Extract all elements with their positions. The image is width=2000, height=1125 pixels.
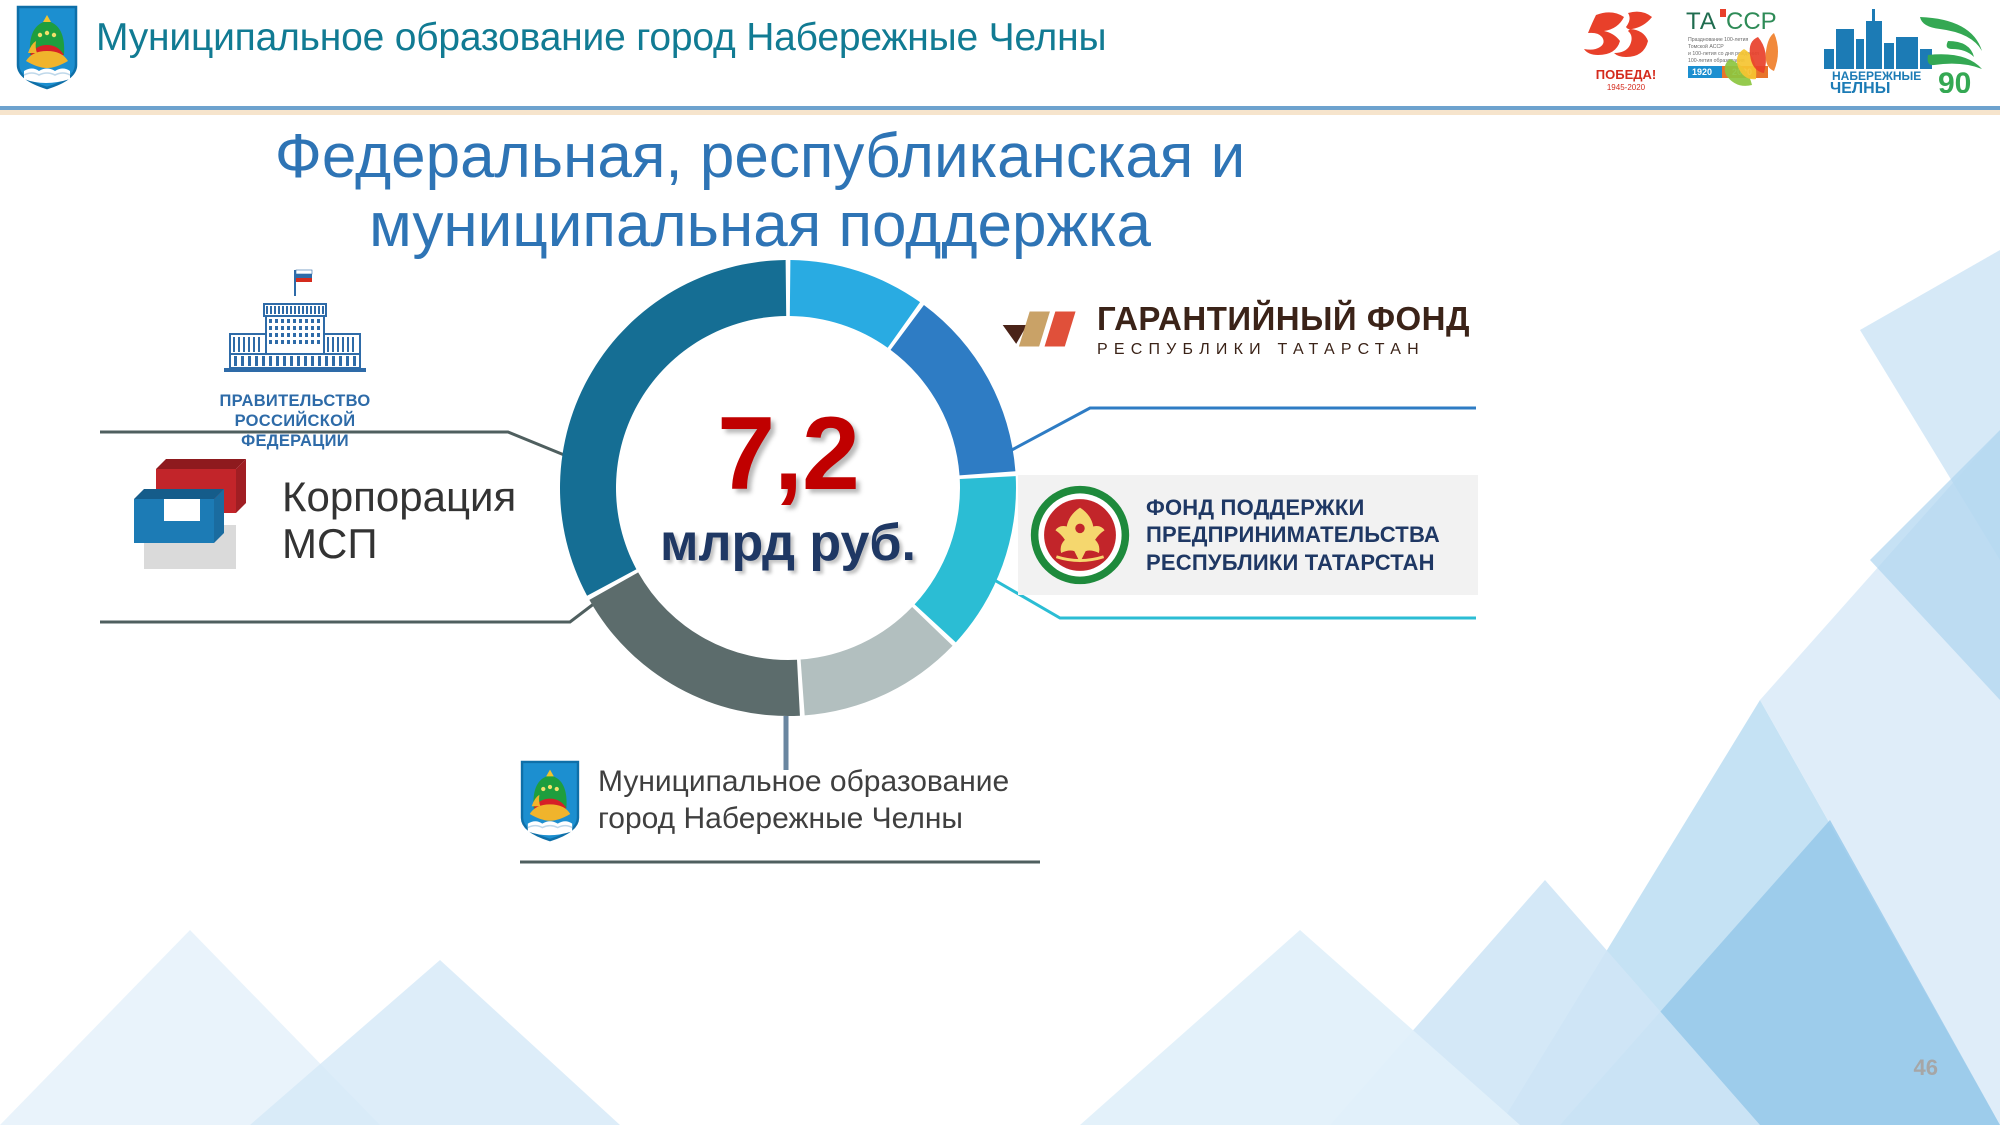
logo-corporation-msp: Корпорация МСП	[118, 455, 538, 585]
tassr-100-logo-icon: ТА ССР Празднование 100-летия Томской АС…	[1678, 3, 1798, 93]
tatarstan-emblem-icon	[1028, 483, 1132, 587]
logo-guarantee-fund-tatarstan: ГАРАНТИЙНЫЙ ФОНД РЕСПУБЛИКИ ТАТАРСТАН	[1000, 292, 1470, 366]
government-caption-line-1: ПРАВИТЕЛЬСТВО	[200, 391, 390, 411]
svg-text:Томской АССР: Томской АССР	[1688, 43, 1724, 50]
slide-canvas: Муниципальное образование город Набережн…	[0, 0, 2000, 1125]
government-caption-line-2: РОССИЙСКОЙ	[200, 411, 390, 431]
guarantee-fund-subtitle: РЕСПУБЛИКИ ТАТАРСТАН	[1097, 341, 1470, 359]
svg-text:ЧЕЛНЫ: ЧЕЛНЫ	[1830, 80, 1890, 93]
donut-segment: Корпорация МСП — 12	[801, 607, 953, 715]
logo-support-fund-tatarstan: ФОНД ПОДДЕРЖКИ ПРЕДПРИНИМАТЕЛЬСТВА РЕСПУ…	[1018, 475, 1478, 595]
msp-caption-line-2: МСП	[282, 520, 516, 567]
donut-segment: Гарантийный фонд Республики Татарстан — …	[790, 260, 920, 348]
msp-caption-line-1: Корпорация	[282, 473, 516, 520]
svg-text:ССР: ССР	[1726, 8, 1777, 35]
guarantee-fund-mark-icon	[1000, 292, 1081, 366]
support-fund-caption: ФОНД ПОДДЕРЖКИ ПРЕДПРИНИМАТЕЛЬСТВА РЕСПУ…	[1146, 494, 1440, 577]
support-fund-line-2: ПРЕДПРИНИМАТЕЛЬСТВА	[1146, 521, 1440, 549]
logo-municipality-naberezhnye-chelny: Муниципальное образование город Набережн…	[520, 760, 1080, 842]
municipality-caption-line-2: город Набережные Челны	[598, 801, 1009, 838]
svg-text:ПОБЕДА!: ПОБЕДА!	[1596, 67, 1656, 82]
government-logo-caption: ПРАВИТЕЛЬСТВО РОССИЙСКОЙ ФЕДЕРАЦИИ	[200, 391, 390, 451]
donut-chart-svg: Гарантийный фонд Республики Татарстан — …	[548, 248, 1028, 728]
corporation-msp-mark-icon	[118, 455, 268, 585]
municipality-crest-icon	[520, 760, 580, 842]
guarantee-fund-text-block: ГАРАНТИЙНЫЙ ФОНД РЕСПУБЛИКИ ТАТАРСТАН	[1097, 300, 1470, 359]
municipality-caption-line-1: Муниципальное образование	[598, 764, 1009, 801]
header-logo-group: ПОБЕДА! 1945-2020 ТА ССР Празднование 10…	[1578, 2, 1992, 94]
government-building-icon	[200, 262, 390, 382]
victory-75-logo-icon: ПОБЕДА! 1945-2020	[1578, 3, 1674, 93]
government-caption-line-3: ФЕДЕРАЦИИ	[200, 431, 390, 451]
header-divider-cream	[0, 110, 2000, 115]
svg-text:Празднование 100-летия: Празднование 100-летия	[1688, 37, 1749, 43]
naberezhnye-chelny-crest-icon	[16, 5, 78, 90]
svg-text:1920: 1920	[1692, 67, 1712, 77]
municipality-caption: Муниципальное образование город Набережн…	[598, 764, 1009, 837]
donut-segment: Правительство Российской Федерации — 18	[589, 572, 800, 716]
msp-logo-caption: Корпорация МСП	[282, 473, 516, 567]
svg-text:1945-2020: 1945-2020	[1607, 83, 1646, 92]
logo-government-of-russia: ПРАВИТЕЛЬСТВО РОССИЙСКОЙ ФЕДЕРАЦИИ	[200, 262, 390, 451]
page-title-line-1: Федеральная, республиканская и	[260, 122, 1260, 191]
donut-segment: Фонд поддержки предпринимательства Респу…	[891, 305, 1016, 475]
support-fund-line-3: РЕСПУБЛИКИ ТАТАРСТАН	[1146, 549, 1440, 577]
donut-segments: Гарантийный фонд Республики Татарстан — …	[560, 260, 1016, 716]
page-title: Федеральная, республиканская и муниципал…	[260, 122, 1260, 261]
donut-chart: Гарантийный фонд Республики Татарстан — …	[548, 248, 1028, 728]
support-fund-line-1: ФОНД ПОДДЕРЖКИ	[1146, 494, 1440, 522]
page-number: 46	[1914, 1055, 1938, 1081]
donut-segment: Прочие — 33	[560, 260, 786, 596]
svg-text:90: 90	[1938, 67, 1971, 93]
slide-header: Муниципальное образование город Набережн…	[0, 0, 2000, 108]
donut-segment: Муниципальное образование город Набережн…	[915, 476, 1016, 642]
header-title: Муниципальное образование город Набережн…	[96, 16, 1106, 60]
chelny-90-logo-icon: НАБЕРЕЖНЫЕ ЧЕЛНЫ 90	[1802, 3, 1992, 93]
svg-text:ТА: ТА	[1686, 8, 1716, 35]
guarantee-fund-title: ГАРАНТИЙНЫЙ ФОНД	[1097, 300, 1470, 338]
